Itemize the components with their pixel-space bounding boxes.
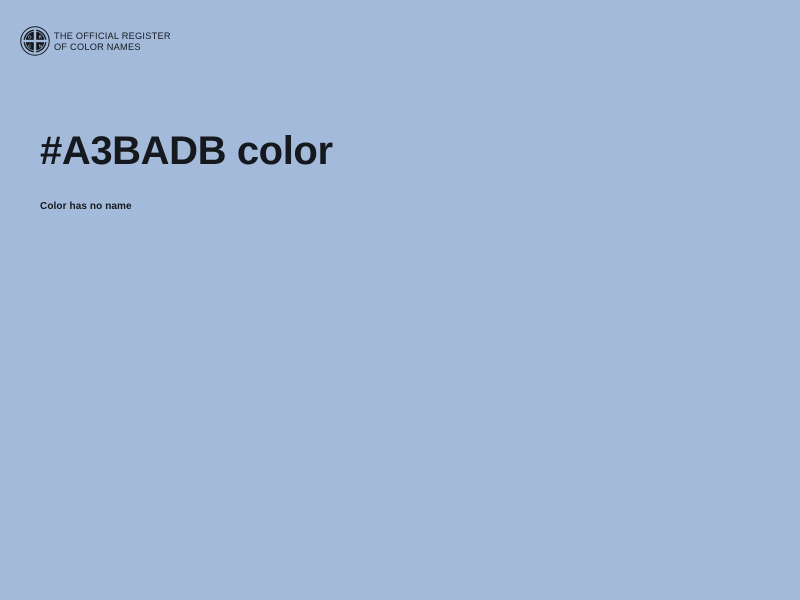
svg-text:R: R	[39, 35, 42, 40]
color-name-status: Color has no name	[40, 200, 132, 214]
official-register-seal-icon: O R C N	[20, 26, 50, 56]
brand-lockup[interactable]: O R C N THE OFFICIAL REGISTER OF COLOR N…	[20, 26, 171, 56]
color-info: #A3BADB color Color has no name	[40, 128, 760, 174]
svg-text:N: N	[39, 44, 42, 49]
brand-wordmark-line-2: OF COLOR NAMES	[54, 42, 171, 53]
brand-wordmark: THE OFFICIAL REGISTER OF COLOR NAMES	[54, 30, 171, 52]
brand-wordmark-line-1: THE OFFICIAL REGISTER	[54, 31, 171, 42]
page-title: #A3BADB color	[40, 128, 760, 174]
svg-text:C: C	[28, 44, 31, 49]
color-page: O R C N THE OFFICIAL REGISTER OF COLOR N…	[0, 0, 800, 600]
